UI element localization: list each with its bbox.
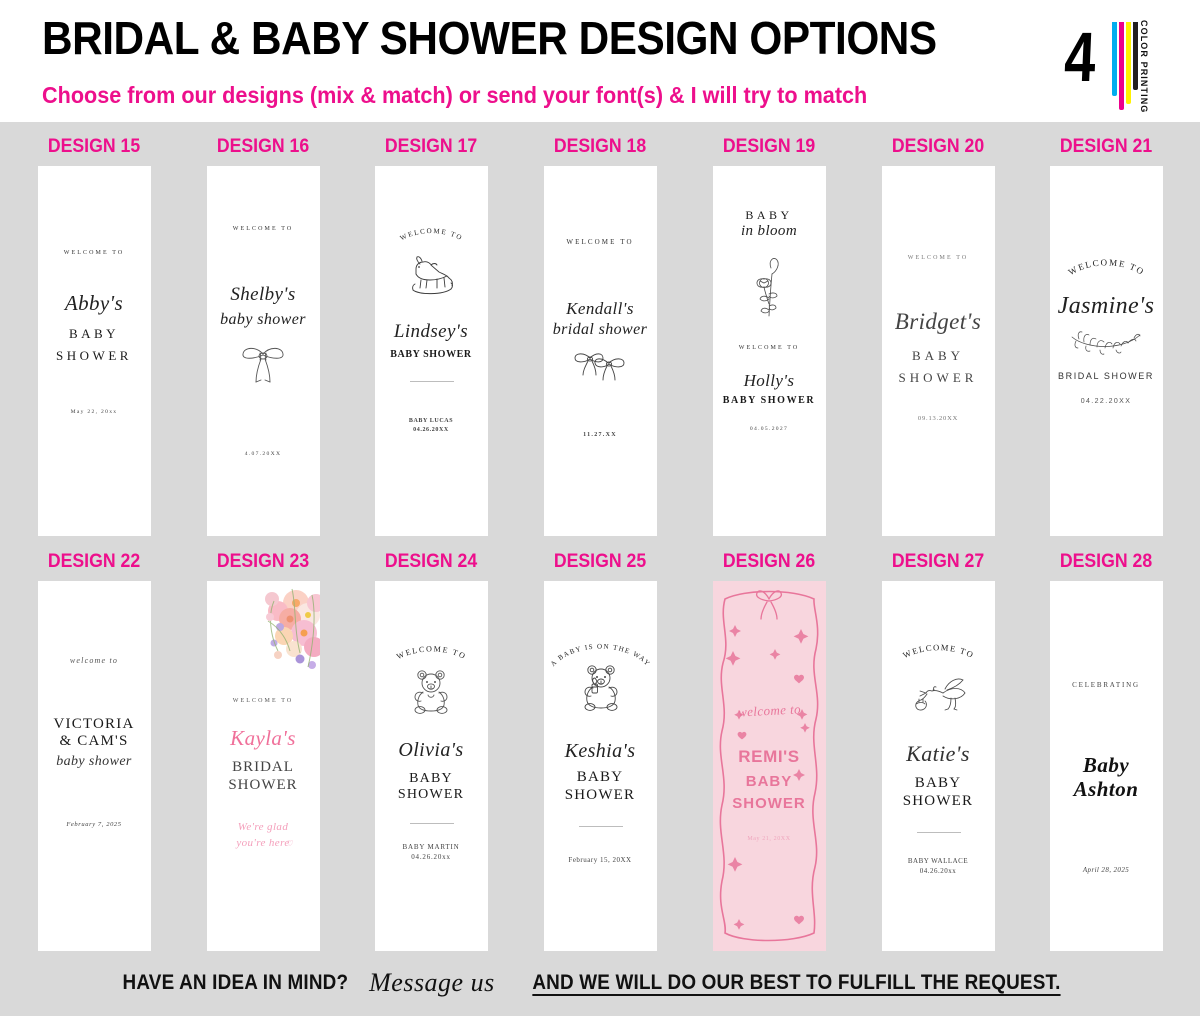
design-cell-18[interactable]: DESIGN 18 WELCOME TO Kendall's bridal sh…	[520, 136, 680, 536]
design-card-25[interactable]: A BABY IS ON THE WAY	[544, 581, 657, 951]
card-name: Olivia's	[375, 739, 488, 762]
card-event-line1: baby shower	[207, 311, 320, 329]
card-divider	[410, 381, 454, 382]
stork-icon	[882, 671, 995, 715]
card-name: Abby's	[38, 291, 151, 316]
card-event-line1: BABY SHOWER	[375, 349, 488, 360]
card-welcome: welcome to	[38, 656, 151, 665]
card-event-line1: BRIDAL SHOWER	[1050, 371, 1163, 381]
card-top-line1: BABY	[713, 208, 826, 223]
design-cell-17[interactable]: DESIGN 17 WELCOME TO	[351, 136, 511, 536]
design-label: DESIGN 20	[864, 136, 1013, 158]
logo-stripe-yellow	[1126, 22, 1131, 104]
card-welcome: WELCOME TO	[882, 255, 995, 261]
card-name-line2: & CAM'S	[38, 733, 151, 750]
card-name-line1: Baby	[1050, 753, 1163, 778]
teddy-bear-icon	[375, 669, 488, 717]
card-date: April 28, 2025	[1050, 866, 1163, 874]
card-date: 04.05.2027	[713, 426, 826, 432]
card-welcome: WELCOME TO	[395, 644, 468, 661]
card-event-line1: BABY	[38, 326, 151, 342]
card-event-line2: SHOWER	[882, 793, 995, 810]
card-event-line1: BABY	[882, 775, 995, 792]
card-date: 04.22.20XX	[1050, 398, 1163, 405]
design-label: DESIGN 22	[20, 551, 169, 573]
design-label: DESIGN 16	[189, 136, 338, 158]
design-cell-22[interactable]: DESIGN 22 welcome to VICTORIA & CAM'S ba…	[14, 551, 174, 951]
logo-stripe-magenta	[1119, 22, 1124, 110]
watercolor-florals	[234, 581, 320, 679]
design-label: DESIGN 25	[526, 551, 675, 573]
card-divider	[917, 832, 961, 833]
card-name-line2: Ashton	[1050, 777, 1163, 802]
design-card-26[interactable]: welcome to REMI'S BABY SHOWER May 21, 20…	[713, 581, 826, 951]
design-label: DESIGN 23	[189, 551, 338, 573]
design-label: DESIGN 17	[357, 136, 506, 158]
page-title: BRIDAL & BABY SHOWER DESIGN OPTIONS	[42, 14, 962, 62]
card-welcome-arc: WELCOME TO	[882, 633, 995, 663]
design-cell-20[interactable]: DESIGN 20 WELCOME TO Bridget's BABY SHOW…	[858, 136, 1018, 536]
logo-stripe-black	[1133, 22, 1138, 90]
card-event-line1: BABY SHOWER	[713, 395, 826, 406]
brand-logo: 4 COLOR PRINTING	[1056, 10, 1176, 114]
card-note-line2: you're here	[207, 837, 320, 849]
design-card-23[interactable]: WELCOME TO Kayla's BRIDAL SHOWER We're g…	[207, 581, 320, 951]
design-card-19[interactable]: BABY in bloom	[713, 166, 826, 536]
footer-part2: AND WE WILL DO OUR BEST TO FULFILL THE R…	[532, 971, 1060, 995]
card-divider	[579, 826, 623, 827]
design-card-28[interactable]: CELEBRATING Baby Ashton April 28, 2025	[1050, 581, 1163, 951]
design-cell-25[interactable]: DESIGN 25 A BABY IS ON THE WAY	[520, 551, 680, 951]
design-cell-16[interactable]: DESIGN 16 WELCOME TO Shelby's baby showe…	[183, 136, 343, 536]
card-welcome: A BABY IS ON THE WAY	[549, 642, 652, 667]
design-card-22[interactable]: welcome to VICTORIA & CAM'S baby shower …	[38, 581, 151, 951]
card-date: May 21, 20XX	[713, 836, 826, 842]
logo-label: COLOR PRINTING	[1139, 20, 1149, 113]
design-cell-24[interactable]: DESIGN 24 WELCOME TO	[351, 551, 511, 951]
card-date: 11.27.XX	[544, 432, 657, 438]
design-cell-27[interactable]: DESIGN 27 WELCOME TO	[858, 551, 1018, 951]
page-subtitle: Choose from our designs (mix & match) or…	[42, 82, 1001, 108]
card-date: BABY WALLACE	[882, 857, 995, 865]
card-welcome: WELCOME TO	[713, 345, 826, 351]
card-event-line1: bridal shower	[544, 321, 657, 339]
footer-message: HAVE AN IDEA IN MIND? Message us AND WE …	[0, 968, 1200, 998]
card-name-line1: VICTORIA	[38, 716, 151, 733]
design-label: DESIGN 19	[695, 136, 844, 158]
design-cell-23[interactable]: DESIGN 23	[183, 551, 343, 951]
card-event-line2: SHOWER	[375, 787, 488, 803]
card-name: Kayla's	[207, 726, 320, 751]
card-name: Kendall's	[544, 299, 657, 319]
design-card-16[interactable]: WELCOME TO Shelby's baby shower	[207, 166, 320, 536]
card-name: Lindsey's	[375, 321, 488, 343]
design-card-20[interactable]: WELCOME TO Bridget's BABY SHOWER 09.13.2…	[882, 166, 995, 536]
card-name: Jasmine's	[1050, 293, 1163, 320]
design-card-18[interactable]: WELCOME TO Kendall's bridal shower	[544, 166, 657, 536]
design-card-17[interactable]: WELCOME TO	[375, 166, 488, 536]
card-welcome: CELEBRATING	[1050, 681, 1163, 689]
design-cell-28[interactable]: DESIGN 28 CELEBRATING Baby Ashton April …	[1026, 551, 1186, 951]
design-card-27[interactable]: WELCOME TO	[882, 581, 995, 951]
card-welcome: WELCOME TO	[901, 642, 976, 660]
card-date-secondary: 04.26.20xx	[375, 853, 488, 861]
botanical-branch-icon	[1050, 329, 1163, 355]
design-label: DESIGN 18	[526, 136, 675, 158]
card-event-line1: BRIDAL	[207, 759, 320, 776]
card-welcome-arc: WELCOME TO	[375, 636, 488, 666]
design-label: DESIGN 27	[864, 551, 1013, 573]
wildflower-icon	[713, 254, 826, 326]
logo-stripe-cyan	[1112, 22, 1117, 96]
card-name: Keshia's	[544, 740, 657, 763]
footer-part1: HAVE AN IDEA IN MIND?	[123, 971, 349, 995]
card-event-line2: SHOWER	[713, 795, 826, 812]
card-date: February 7, 2025	[38, 821, 151, 828]
card-date-secondary: 04.26.20XX	[375, 427, 488, 433]
teddy-bear-bottle-icon	[544, 665, 657, 715]
header: BRIDAL & BABY SHOWER DESIGN OPTIONS Choo…	[0, 0, 1200, 122]
card-name: Bridget's	[882, 309, 995, 335]
card-date: BABY LUCAS	[375, 418, 488, 424]
card-welcome: WELCOME TO	[207, 226, 320, 232]
design-card-24[interactable]: WELCOME TO	[375, 581, 488, 951]
card-welcome-arc: WELCOME TO	[375, 220, 488, 250]
card-welcome: WELCOME TO	[38, 250, 151, 256]
card-note-line1: We're glad	[207, 821, 320, 833]
card-date: February 15, 20XX	[544, 856, 657, 864]
card-event-line1: BABY	[713, 773, 826, 790]
card-name: REMI'S	[713, 747, 826, 767]
logo-numeral: 4	[1063, 22, 1097, 92]
svg-text:WELCOME TO: WELCOME TO	[395, 644, 468, 661]
card-event-line2: SHOWER	[544, 787, 657, 804]
card-event-line1: BABY	[375, 771, 488, 787]
poster-root: BRIDAL & BABY SHOWER DESIGN OPTIONS Choo…	[0, 0, 1200, 1016]
svg-text:WELCOME TO: WELCOME TO	[398, 227, 463, 242]
design-cell-26[interactable]: DESIGN 26	[689, 551, 849, 951]
card-event-line2: SHOWER	[38, 348, 151, 364]
card-welcome: WELCOME TO	[207, 698, 320, 704]
double-bow-icon	[544, 349, 657, 383]
design-grid: DESIGN 15 WELCOME TO Abby's BABY SHOWER …	[0, 122, 1200, 958]
card-date: BABY MARTIN	[375, 843, 488, 851]
footer-script: Message us	[361, 968, 503, 998]
svg-text:A BABY IS ON THE WAY: A BABY IS ON THE WAY	[549, 642, 652, 667]
design-label: DESIGN 15	[20, 136, 169, 158]
design-label: DESIGN 28	[1032, 551, 1181, 573]
card-welcome-arc: A BABY IS ON THE WAY	[544, 631, 657, 661]
card-name: Katie's	[882, 741, 995, 767]
card-date: 4.07.20XX	[207, 451, 320, 457]
card-event-line2: SHOWER	[882, 370, 995, 386]
card-event-line1: BABY	[544, 769, 657, 786]
card-date-secondary: 04.26.20xx	[882, 867, 995, 875]
card-welcome: WELCOME TO	[544, 238, 657, 246]
card-event-line2: SHOWER	[207, 777, 320, 794]
card-welcome: WELCOME TO	[1066, 257, 1146, 277]
card-top-line2: in bloom	[713, 223, 826, 240]
heart-icon: ♡	[287, 839, 294, 848]
design-card-15[interactable]: WELCOME TO Abby's BABY SHOWER May 22, 20…	[38, 166, 151, 536]
footer: HAVE AN IDEA IN MIND? Message us AND WE …	[0, 958, 1200, 1016]
svg-text:WELCOME TO: WELCOME TO	[901, 642, 976, 660]
design-cell-15[interactable]: DESIGN 15 WELCOME TO Abby's BABY SHOWER …	[14, 136, 174, 536]
design-card-21[interactable]: WELCOME TO Jasmine's	[1050, 166, 1163, 536]
design-cell-21[interactable]: DESIGN 21 WELCOME TO Jasmine's	[1026, 136, 1186, 536]
design-label: DESIGN 24	[357, 551, 506, 573]
design-cell-19[interactable]: DESIGN 19 BABY in bloom	[689, 136, 849, 536]
card-name: Holly's	[713, 371, 826, 391]
card-name: Shelby's	[207, 284, 320, 306]
card-welcome-arc: WELCOME TO	[1050, 248, 1163, 278]
card-welcome: WELCOME TO	[398, 227, 463, 242]
card-date: 09.13.20XX	[882, 415, 995, 422]
rocking-horse-icon	[375, 252, 488, 298]
svg-text:WELCOME TO: WELCOME TO	[1066, 257, 1146, 277]
card-event-line1: BABY	[882, 348, 995, 364]
card-event-line1: baby shower	[38, 754, 151, 770]
design-label: DESIGN 26	[695, 551, 844, 573]
design-label: DESIGN 21	[1032, 136, 1181, 158]
bow-icon	[207, 340, 320, 386]
card-divider	[410, 823, 454, 824]
card-date: May 22, 20xx	[38, 409, 151, 415]
